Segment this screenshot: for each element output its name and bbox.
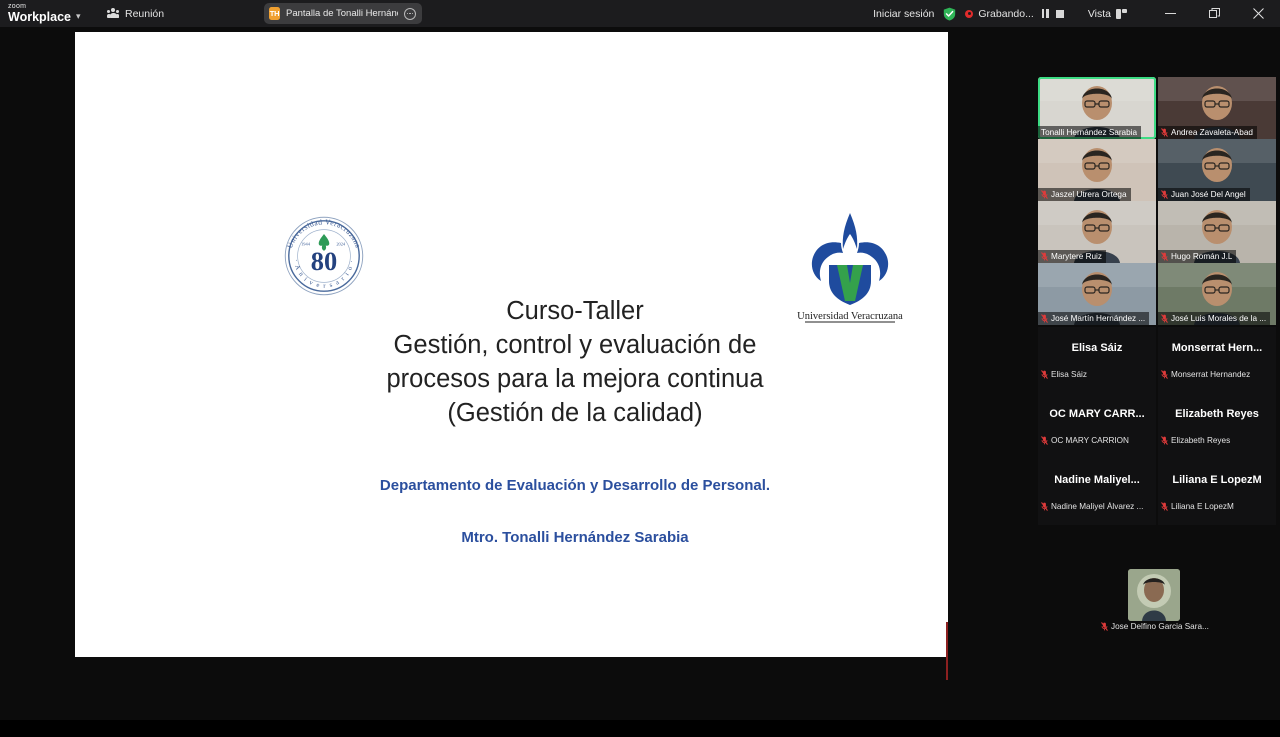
participant-video-tile[interactable]: Hugo Román J.L xyxy=(1158,201,1276,263)
participants-strip[interactable]: Tonalli Hernández Sarabia Andrea Zavalet… xyxy=(1038,77,1280,737)
participant-name-badge: Monserrat Hernandez xyxy=(1158,368,1254,381)
video-tile-grid: Tonalli Hernández Sarabia Andrea Zavalet… xyxy=(1038,77,1280,325)
mic-muted-icon xyxy=(1161,252,1168,261)
participant-name: José Luis Morales de la ... xyxy=(1171,314,1266,323)
participant-name-badge: Liliana E LopezM xyxy=(1158,500,1238,513)
slide-department: Departamento de Evaluación y Desarrollo … xyxy=(195,477,948,494)
participant-name-badge: Elizabeth Reyes xyxy=(1158,434,1234,447)
mic-muted-icon xyxy=(1161,128,1168,137)
stop-recording-icon[interactable] xyxy=(1056,10,1064,18)
participant-name-badge: Nadine Maliyel Álvarez ... xyxy=(1038,500,1147,513)
video-tile-row: José Martín Hernández ... José Luis Mora… xyxy=(1038,263,1280,325)
camera-off-tile-row: OC MARY CARR... OC MARY CARRIONElizabeth… xyxy=(1038,393,1280,459)
camera-off-tile-row: Nadine Maliyel... Nadine Maliyel Álvarez… xyxy=(1038,459,1280,525)
recording-indicator: Grabando... xyxy=(965,8,1063,20)
participant-video-tile[interactable]: Tonalli Hernández Sarabia xyxy=(1038,77,1156,139)
participant-name-badge: Jaszel Utrera Ortega xyxy=(1038,188,1131,201)
participant-name-tile[interactable]: Liliana E LopezM Liliana E LopezM xyxy=(1158,459,1276,525)
participant-name-badge: OC MARY CARRION xyxy=(1038,434,1133,447)
mic-muted-icon xyxy=(1161,314,1168,323)
record-dot-icon xyxy=(965,10,973,18)
restore-icon[interactable] xyxy=(1192,0,1236,27)
participant-display-name: Elizabeth Reyes xyxy=(1158,408,1276,420)
mic-muted-icon xyxy=(1041,190,1048,199)
video-tile-row: Tonalli Hernández Sarabia Andrea Zavalet… xyxy=(1038,77,1280,139)
participant-name: Tonalli Hernández Sarabia xyxy=(1041,128,1137,137)
more-options-icon[interactable] xyxy=(404,8,416,20)
presentation-slide: Universidad Veracruzana · A n i v e r s … xyxy=(75,32,948,657)
tab-screen-share-label: Pantalla de Tonalli Hernández Sar xyxy=(286,8,398,19)
participant-video-tile[interactable]: Juan José Del Angel xyxy=(1158,139,1276,201)
sign-in-button[interactable]: Iniciar sesión xyxy=(864,8,943,20)
participant-video-tile[interactable]: Andrea Zavaleta-Abad xyxy=(1158,77,1276,139)
participant-name-tile[interactable]: OC MARY CARR... OC MARY CARRION xyxy=(1038,393,1156,459)
avatar-initials: TH xyxy=(269,7,280,20)
participant-name-badge: Juan José Del Angel xyxy=(1158,188,1250,201)
slide-author: Mtro. Tonalli Hernández Sarabia xyxy=(195,529,948,546)
people-icon xyxy=(107,8,119,19)
participant-name-badge: Andrea Zavaleta-Abad xyxy=(1158,126,1257,139)
close-icon[interactable] xyxy=(1236,0,1280,27)
tab-reunion-label: Reunión xyxy=(125,8,164,20)
brand-workplace-label: Workplace xyxy=(8,11,71,24)
participant-display-name: Elisa Sáiz xyxy=(1038,342,1156,354)
recording-label: Grabando... xyxy=(978,8,1033,20)
view-button-label: Vista xyxy=(1088,8,1111,20)
mic-muted-icon xyxy=(1161,190,1168,199)
pause-recording-icon[interactable] xyxy=(1042,9,1049,18)
mic-muted-icon xyxy=(1041,370,1048,379)
participant-display-name: Nadine Maliyel... xyxy=(1038,474,1156,486)
participant-name-badge: Hugo Román J.L xyxy=(1158,250,1236,263)
tab-reunion[interactable]: Reunión xyxy=(100,3,171,24)
participant-name: Juan José Del Angel xyxy=(1171,190,1246,199)
participant-display-name: OC MARY CARR... xyxy=(1038,408,1156,420)
participant-display-name: Liliana E LopezM xyxy=(1158,474,1276,486)
screen-share-border-indicator xyxy=(946,622,948,680)
mic-muted-icon xyxy=(1041,436,1048,445)
tab-screen-share[interactable]: TH Pantalla de Tonalli Hernández Sar xyxy=(264,3,422,24)
chevron-down-icon[interactable]: ▾ xyxy=(76,11,81,22)
participant-avatar-tile[interactable]: Jose Delfino Garcia Sara... xyxy=(1096,567,1214,633)
shared-screen-content[interactable]: Universidad Veracruzana · A n i v e r s … xyxy=(75,32,948,657)
mic-muted-icon xyxy=(1101,622,1108,631)
slide-title: Curso-Taller Gestión, control y evaluaci… xyxy=(195,294,948,430)
participant-video-tile[interactable]: Jaszel Utrera Ortega xyxy=(1038,139,1156,201)
encryption-shield-icon[interactable] xyxy=(943,7,956,21)
participant-video-tile[interactable]: Marytere Ruiz xyxy=(1038,201,1156,263)
participant-video-tile[interactable]: José Martín Hernández ... xyxy=(1038,263,1156,325)
participant-name: Andrea Zavaleta-Abad xyxy=(1171,128,1253,137)
participant-name: Marytere Ruiz xyxy=(1051,252,1102,261)
participant-video-tile[interactable]: José Luis Morales de la ... xyxy=(1158,263,1276,325)
camera-off-tile-row: Elisa Sáiz Elisa SáizMonserrat Hern... M… xyxy=(1038,327,1280,393)
mic-muted-icon xyxy=(1041,502,1048,511)
participant-name-tile[interactable]: Elisa Sáiz Elisa Sáiz xyxy=(1038,327,1156,393)
slide-scrollbar[interactable] xyxy=(921,182,948,582)
participant-name: Nadine Maliyel Álvarez ... xyxy=(1051,502,1143,511)
participant-name: Jose Delfino Garcia Sara... xyxy=(1111,622,1209,631)
mic-muted-icon xyxy=(1041,314,1048,323)
layout-grid-icon xyxy=(1116,9,1128,19)
participant-name-badge: José Martín Hernández ... xyxy=(1038,312,1149,325)
participant-name-badge: Tonalli Hernández Sarabia xyxy=(1038,126,1141,139)
mic-muted-icon xyxy=(1161,370,1168,379)
participant-name-badge: Marytere Ruiz xyxy=(1038,250,1106,263)
participant-display-name: Monserrat Hern... xyxy=(1158,342,1276,354)
brand-zoom-label: zoom xyxy=(8,3,71,10)
view-button[interactable]: Vista xyxy=(1082,8,1134,20)
zoom-workplace-brand: zoom Workplace ▾ xyxy=(0,3,86,24)
participant-name: José Martín Hernández ... xyxy=(1051,314,1145,323)
window-controls xyxy=(1148,0,1280,27)
participant-name-badge: José Luis Morales de la ... xyxy=(1158,312,1270,325)
participant-name-tile[interactable]: Nadine Maliyel... Nadine Maliyel Álvarez… xyxy=(1038,459,1156,525)
svg-text:1944: 1944 xyxy=(301,241,311,246)
mic-muted-icon xyxy=(1041,252,1048,261)
title-bar: zoom Workplace ▾ Reunión TH Pantalla de … xyxy=(0,0,1280,27)
mic-muted-icon xyxy=(1161,502,1168,511)
participant-name: Monserrat Hernandez xyxy=(1171,370,1250,379)
video-tile-row: Jaszel Utrera Ortega Juan José Del Angel xyxy=(1038,139,1280,201)
svg-text:2024: 2024 xyxy=(336,241,346,246)
svg-text:80: 80 xyxy=(311,246,337,276)
participant-name: Hugo Román J.L xyxy=(1171,252,1232,261)
uv-80-aniversario-seal: Universidad Veracruzana · A n i v e r s … xyxy=(280,212,368,300)
participant-name: Elizabeth Reyes xyxy=(1171,436,1230,445)
participant-name: Liliana E LopezM xyxy=(1171,502,1234,511)
minimize-icon[interactable] xyxy=(1148,0,1192,27)
participant-name-tile[interactable]: Elizabeth Reyes Elizabeth Reyes xyxy=(1158,393,1276,459)
meeting-stage: Universidad Veracruzana · A n i v e r s … xyxy=(0,27,1280,720)
participant-name: OC MARY CARRION xyxy=(1051,436,1129,445)
avatar xyxy=(1128,569,1180,621)
title-bar-right-cluster: Iniciar sesión Grabando... Vista xyxy=(864,0,1280,27)
participant-name-tile[interactable]: Monserrat Hern... Monserrat Hernandez xyxy=(1158,327,1276,393)
participant-name-badge: Elisa Sáiz xyxy=(1038,368,1091,381)
participant-name-badge: Jose Delfino Garcia Sara... xyxy=(1098,620,1213,633)
video-tile-row: Marytere Ruiz Hugo Román J.L xyxy=(1038,201,1280,263)
participant-name: Elisa Sáiz xyxy=(1051,370,1087,379)
camera-off-tile-grid: Elisa Sáiz Elisa SáizMonserrat Hern... M… xyxy=(1038,327,1280,525)
participant-name: Jaszel Utrera Ortega xyxy=(1051,190,1127,199)
mic-muted-icon xyxy=(1161,436,1168,445)
